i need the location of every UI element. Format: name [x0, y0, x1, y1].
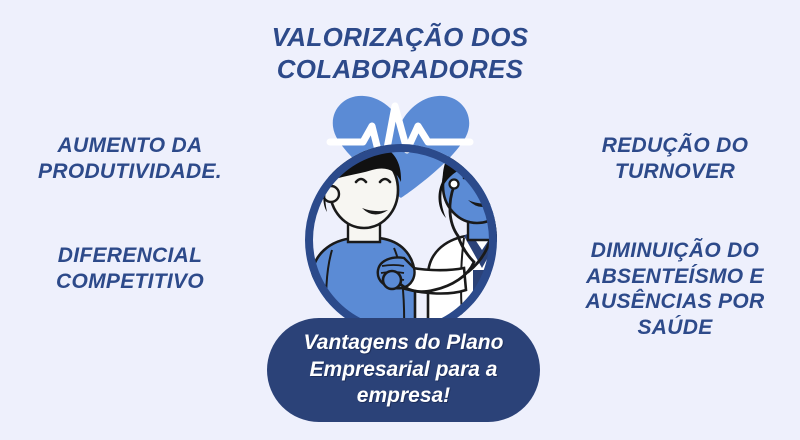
benefit-label-reducao-turnover: REDUÇÃO DO TURNOVER: [562, 133, 788, 184]
benefit-label-absenteismo: DIMINUIÇÃO DO ABSENTEÍSMO E AUSÊNCIAS PO…: [560, 238, 790, 340]
benefit-label-valorizacao: VALORIZAÇÃO DOS COLABORADORES: [250, 22, 550, 85]
main-title-banner: Vantagens do Plano Empresarial para a em…: [267, 318, 540, 422]
benefit-label-diferencial-competitivo: DIFERENCIAL COMPETITIVO: [20, 243, 240, 294]
main-title-text: Vantagens do Plano Empresarial para a em…: [304, 330, 504, 411]
central-illustration: [268, 90, 534, 335]
benefit-label-produtividade: AUMENTO DA PRODUTIVIDADE.: [20, 133, 240, 184]
infographic-canvas: VALORIZAÇÃO DOS COLABORADORES AUMENTO DA…: [0, 0, 800, 440]
